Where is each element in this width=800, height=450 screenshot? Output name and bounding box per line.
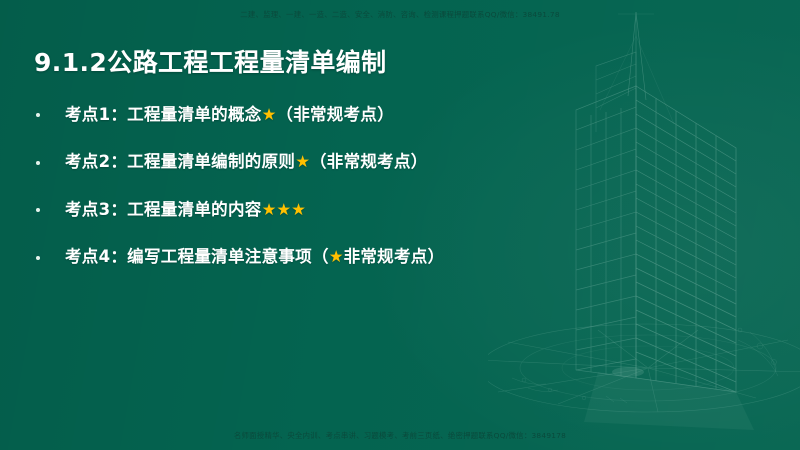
- slide-title: 9.1.2公路工程工程量清单编制: [34, 47, 387, 78]
- bullet-text: 考点4：编写工程量清单注意事项（★非常规考点）: [65, 249, 444, 266]
- star-rating-icon: ★: [262, 105, 277, 124]
- star-rating-icon: ★: [329, 247, 344, 266]
- bullet-dot-icon: [36, 161, 40, 165]
- top-promo-banner: 二建、监理、一建、一造、二造、安全、消防、咨询、检测课程押题联系QQ/微信：38…: [0, 9, 800, 20]
- bullet-lead-text: 考点1：工程量清单的概念: [65, 105, 262, 124]
- bullet-trail-text: 非常规考点）: [344, 247, 445, 266]
- bullet-lead-text: 考点3：工程量清单的内容: [65, 200, 262, 219]
- bullet-trail-text: （非常规考点）: [310, 152, 428, 171]
- bullet-trail-text: （非常规考点）: [276, 105, 394, 124]
- list-item: 考点2：工程量清单编制的原则★（非常规考点）: [28, 151, 588, 175]
- list-item: 考点1：工程量清单的概念★（非常规考点）: [28, 103, 588, 127]
- list-item: 考点4：编写工程量清单注意事项（★非常规考点）: [28, 246, 588, 270]
- slide-canvas: 二建、监理、一建、一造、二造、安全、消防、咨询、检测课程押题联系QQ/微信：38…: [0, 0, 800, 450]
- bullet-lead-text: 考点4：编写工程量清单注意事项（: [65, 247, 329, 266]
- star-rating-icon: ★★★: [262, 200, 306, 219]
- bullet-list: 考点1：工程量清单的概念★（非常规考点） 考点2：工程量清单编制的原则★（非常规…: [28, 103, 588, 293]
- bullet-text: 考点2：工程量清单编制的原则★（非常规考点）: [65, 154, 428, 171]
- bullet-dot-icon: [36, 113, 40, 117]
- bottom-promo-banner: 名师面授精华、央全内训、考点串讲、习题模考、考前三页纸、绝密押题联系QQ/微信：…: [0, 430, 800, 441]
- bullet-text: 考点3：工程量清单的内容★★★: [65, 202, 306, 219]
- bullet-dot-icon: [36, 208, 40, 212]
- star-rating-icon: ★: [295, 152, 310, 171]
- bullet-text: 考点1：工程量清单的概念★（非常规考点）: [65, 107, 394, 124]
- bullet-dot-icon: [36, 256, 40, 260]
- list-item: 考点3：工程量清单的内容★★★: [28, 198, 588, 222]
- bullet-lead-text: 考点2：工程量清单编制的原则: [65, 152, 295, 171]
